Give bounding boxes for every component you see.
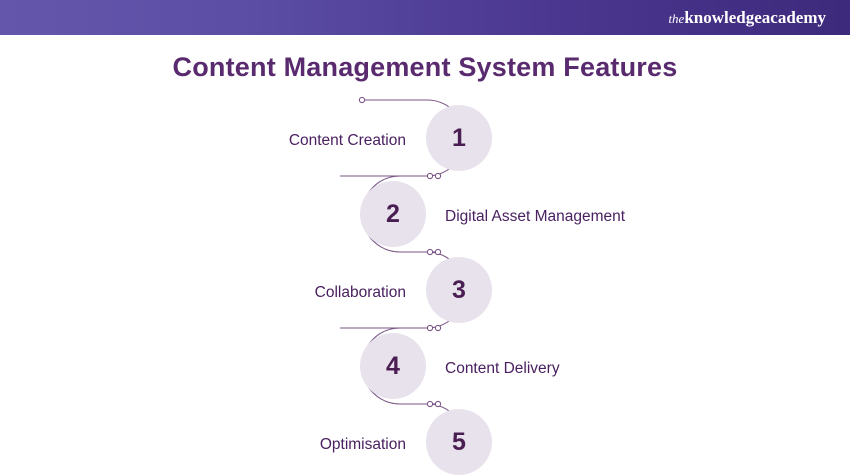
step-number-circle-2[interactable]: 2 (360, 181, 426, 247)
connector-joint-3-b (435, 325, 440, 330)
header-bar: theknowledgeacademy (0, 0, 850, 35)
brand-logo: theknowledgeacademy (668, 9, 826, 26)
step-label-3[interactable]: Collaboration (315, 285, 406, 301)
step-label-5[interactable]: Optimisation (320, 437, 406, 453)
connector-joint-4-b (435, 401, 440, 406)
step-label-4[interactable]: Content Delivery (445, 361, 560, 377)
connector-joint-3-a (427, 325, 432, 330)
step-label-1[interactable]: Content Creation (289, 133, 406, 149)
step-number-2: 2 (386, 200, 400, 229)
step-label-2[interactable]: Digital Asset Management (445, 209, 625, 225)
step-number-circle-3[interactable]: 3 (426, 257, 492, 323)
step-number-circle-5[interactable]: 5 (426, 409, 492, 475)
connector-joint-2-a (427, 249, 432, 254)
connector-joint-1-a (427, 173, 432, 178)
connector-joint-1-b (435, 173, 440, 178)
steps-diagram: 1 Content Creation 2 Digital Asset Manag… (0, 95, 850, 440)
connector-joint-4-a (427, 401, 432, 406)
step-number-circle-1[interactable]: 1 (426, 105, 492, 171)
connector-endpoint-top (359, 97, 364, 102)
step-number-1: 1 (452, 124, 466, 153)
connector-joint-2-b (435, 249, 440, 254)
step-number-4: 4 (386, 352, 400, 381)
brand-logo-name: knowledgeacademy (684, 8, 826, 27)
brand-logo-prefix: the (668, 11, 684, 26)
step-number-3: 3 (452, 276, 466, 305)
step-number-circle-4[interactable]: 4 (360, 333, 426, 399)
step-number-5: 5 (452, 428, 466, 457)
page-title: Content Management System Features (0, 52, 850, 83)
connector-path-svg (0, 95, 850, 440)
